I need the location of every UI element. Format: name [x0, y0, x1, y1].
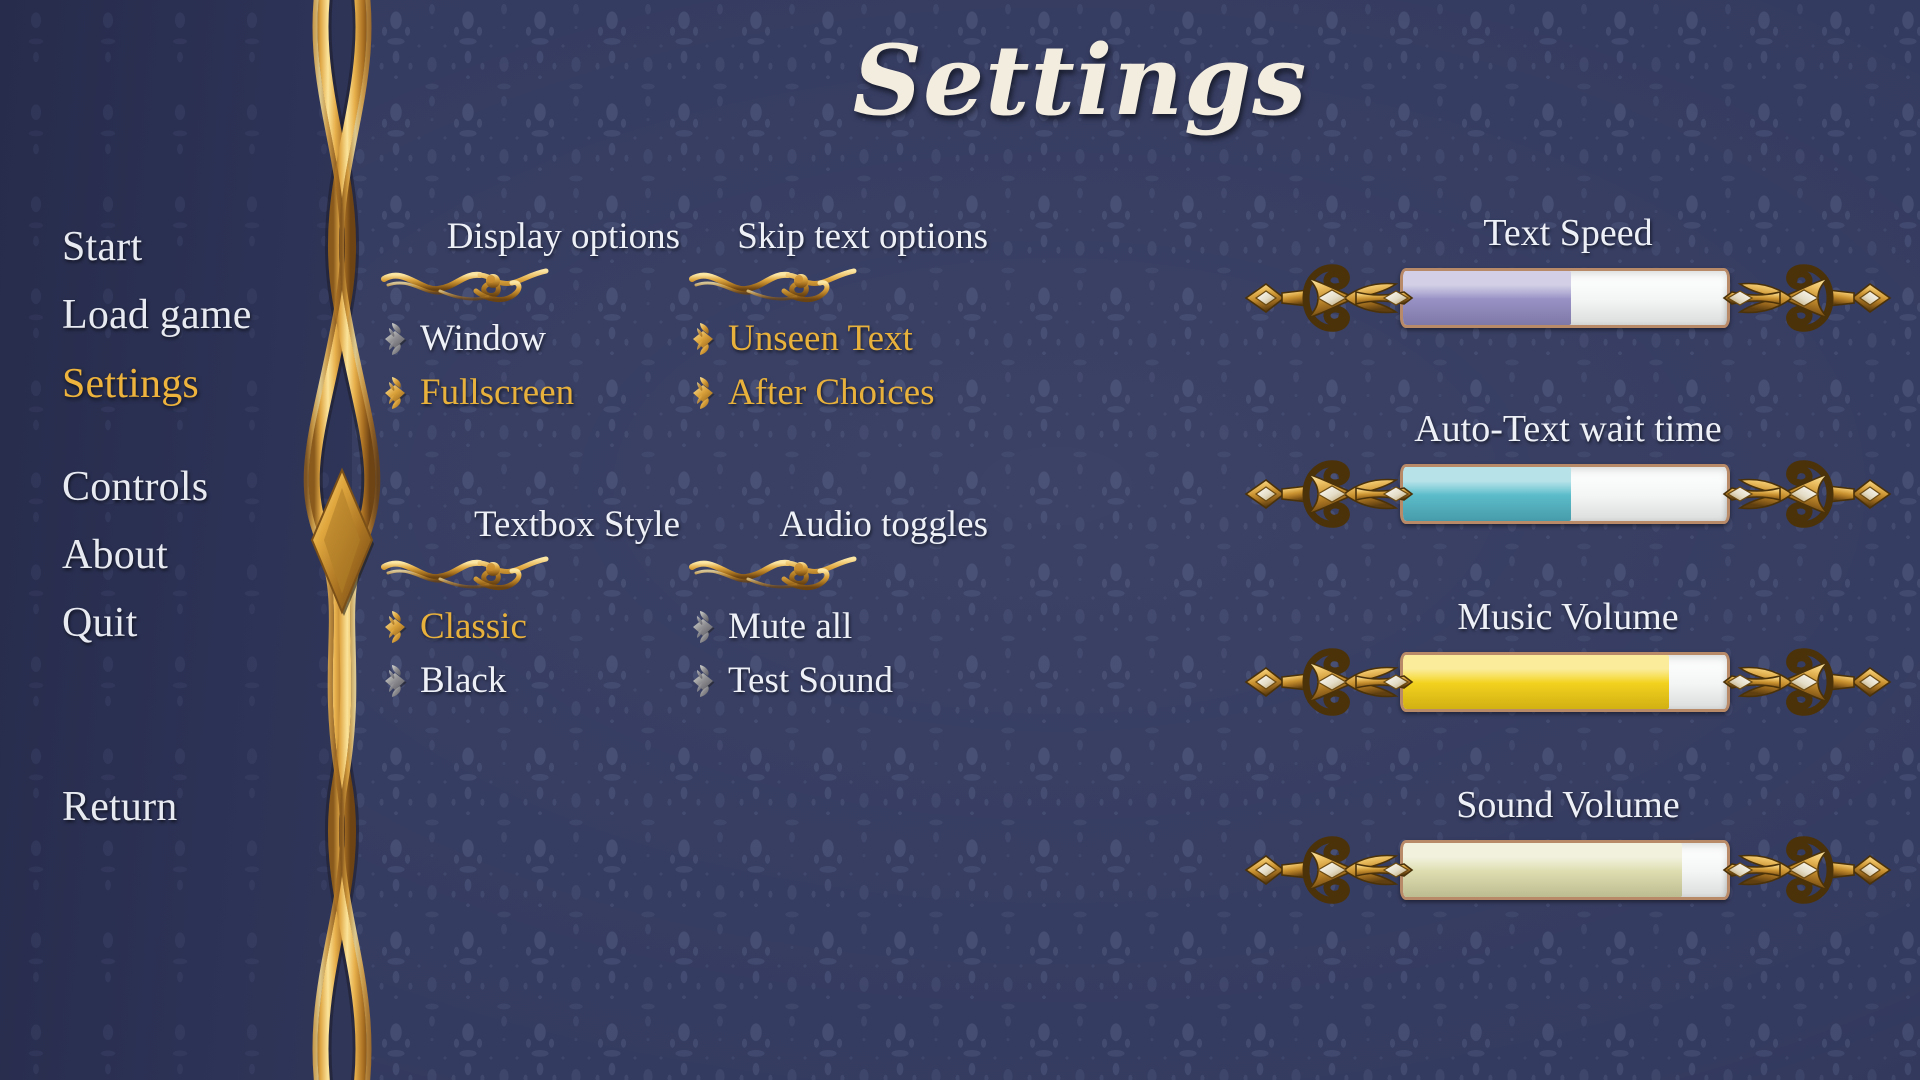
settings-screen: StartLoad gameSettingsControlsAboutQuitR…: [0, 0, 1920, 1080]
slider-label-text-speed: Text Speed: [1248, 214, 1888, 252]
sidebar-item-start[interactable]: Start: [62, 226, 142, 268]
option-label: Unseen Text: [728, 320, 913, 359]
slider-block-sound-volume: Sound Volume: [1248, 786, 1888, 906]
slider-fill: [1403, 467, 1571, 521]
option-classic[interactable]: Classic: [380, 607, 527, 647]
slider-block-music-volume: Music Volume: [1248, 598, 1888, 718]
slider-fill: [1403, 655, 1669, 709]
flourish-divider: [688, 549, 988, 593]
flourish-divider: [380, 261, 680, 305]
flourish-ornament-icon: [380, 549, 550, 593]
slider-track[interactable]: [1400, 464, 1730, 524]
slider-text-speed[interactable]: [1248, 262, 1888, 334]
slider-label-music-volume: Music Volume: [1248, 598, 1888, 636]
page-title: Settings: [760, 24, 1400, 137]
option-group-skip-text-options: Skip text options: [688, 218, 988, 427]
slider-music-volume[interactable]: [1248, 646, 1888, 718]
slider-ornament-left-icon: [1244, 458, 1414, 530]
flourish-divider: [688, 261, 988, 305]
flourish-ornament-icon: [380, 261, 550, 305]
option-label: Fullscreen: [420, 374, 574, 413]
option-label: Classic: [420, 608, 527, 647]
flourish-ornament-icon: [688, 261, 858, 305]
flourish-ornament-icon: [688, 549, 858, 593]
slider-ornament-right-icon: [1722, 646, 1892, 718]
sidebar-item-controls[interactable]: Controls: [62, 466, 208, 508]
option-group-display-options: Display options: [380, 218, 680, 427]
slider-track[interactable]: [1400, 840, 1730, 900]
sidebar-item-settings[interactable]: Settings: [62, 363, 199, 405]
option-unseen-text[interactable]: Unseen Text: [688, 319, 913, 359]
slider-track[interactable]: [1400, 652, 1730, 712]
option-diamond-unselected-icon: [380, 661, 410, 701]
option-label: Window: [420, 320, 546, 359]
slider-fill: [1403, 843, 1682, 897]
option-test-sound[interactable]: Test Sound: [688, 661, 893, 701]
option-list: Unseen Text After Choices: [688, 319, 988, 413]
option-group-header: Skip text options: [688, 218, 988, 255]
option-list: Mute all Test Sound: [688, 607, 988, 701]
option-diamond-selected-icon: [688, 373, 718, 413]
option-diamond-unselected-icon: [688, 661, 718, 701]
slider-auto-text-wait-time[interactable]: [1248, 458, 1888, 530]
gold-vine-divider: [296, 0, 388, 1080]
option-black[interactable]: Black: [380, 661, 506, 701]
option-diamond-selected-icon: [380, 373, 410, 413]
option-diamond-selected-icon: [688, 319, 718, 359]
slider-label-sound-volume: Sound Volume: [1248, 786, 1888, 824]
slider-ornament-right-icon: [1722, 834, 1892, 906]
slider-sound-volume[interactable]: [1248, 834, 1888, 906]
option-after-choices[interactable]: After Choices: [688, 373, 935, 413]
option-list: Classic Black: [380, 607, 680, 701]
option-window[interactable]: Window: [380, 319, 546, 359]
slider-block-auto-text-wait-time: Auto-Text wait time: [1248, 410, 1888, 530]
sidebar-item-load-game[interactable]: Load game: [62, 294, 252, 336]
option-label: Mute all: [728, 608, 852, 647]
slider-ornament-left-icon: [1244, 262, 1414, 334]
sidebar-item-quit[interactable]: Quit: [62, 602, 137, 644]
gold-vine-icon: [296, 0, 388, 1080]
option-diamond-unselected-icon: [688, 607, 718, 647]
option-group-textbox-style: Textbox Style: [380, 506, 680, 715]
slider-fill: [1403, 271, 1571, 325]
option-group-header: Textbox Style: [380, 506, 680, 543]
slider-ornament-right-icon: [1722, 262, 1892, 334]
option-group-audio-toggles: Audio toggles: [688, 506, 988, 715]
slider-label-auto-text-wait-time: Auto-Text wait time: [1248, 410, 1888, 448]
slider-ornament-left-icon: [1244, 834, 1414, 906]
slider-track[interactable]: [1400, 268, 1730, 328]
option-diamond-unselected-icon: [380, 319, 410, 359]
option-mute-all[interactable]: Mute all: [688, 607, 852, 647]
sidebar-item-return[interactable]: Return: [62, 786, 178, 828]
sidebar-item-about[interactable]: About: [62, 534, 168, 576]
slider-ornament-right-icon: [1722, 458, 1892, 530]
option-group-header: Display options: [380, 218, 680, 255]
option-label: Test Sound: [728, 662, 893, 701]
option-label: After Choices: [728, 374, 935, 413]
slider-block-text-speed: Text Speed: [1248, 214, 1888, 334]
option-list: Window Fullscreen: [380, 319, 680, 413]
slider-ornament-left-icon: [1244, 646, 1414, 718]
option-fullscreen[interactable]: Fullscreen: [380, 373, 574, 413]
option-diamond-selected-icon: [380, 607, 410, 647]
flourish-divider: [380, 549, 680, 593]
option-group-header: Audio toggles: [688, 506, 988, 543]
option-label: Black: [420, 662, 506, 701]
